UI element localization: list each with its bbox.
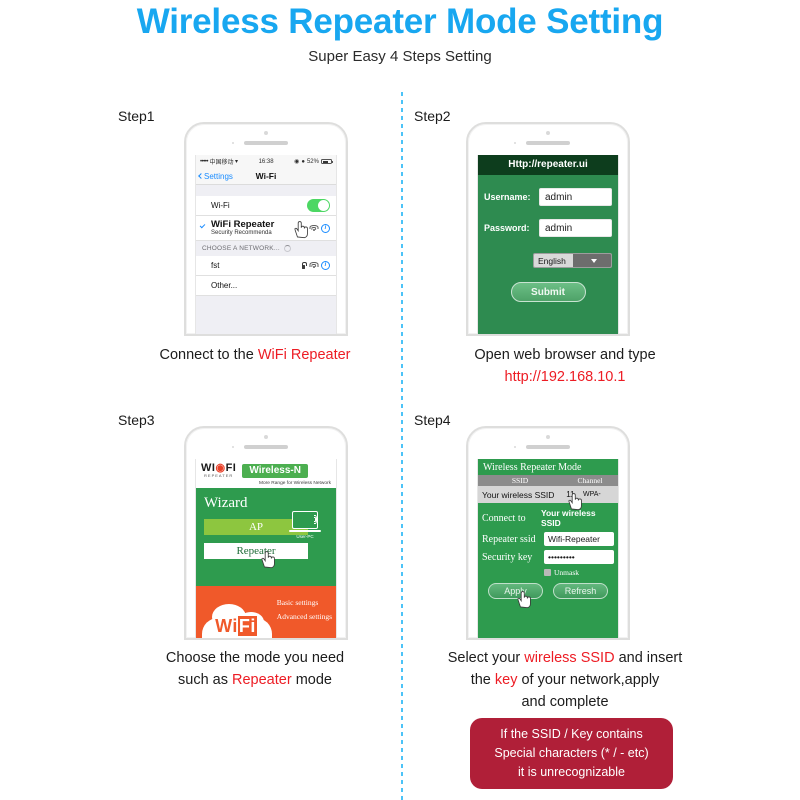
camera-icon <box>546 131 550 135</box>
list-top-gap <box>196 185 336 196</box>
speaker-grill <box>244 141 288 145</box>
security-key-row: Security key ••••••••• <box>478 546 618 564</box>
network-row-other[interactable]: Other... <box>196 276 336 296</box>
camera-icon <box>264 131 268 135</box>
phone-top-bezel <box>468 428 628 459</box>
page-subtitle: Super Easy 4 Steps Setting <box>0 48 800 65</box>
step-3-caption-line2: such as Repeater mode <box>110 670 400 692</box>
step-3-phone: WI◉FI REPEATER Wireless-N More Range for… <box>184 426 348 640</box>
step-4-caption: Select your wireless SSID and insert the… <box>415 648 715 713</box>
username-input[interactable]: admin <box>539 188 612 206</box>
ios-settings-list: Wi-Fi WiFi Repeater Security Recommenda … <box>196 185 336 334</box>
step-1-label-wrap: Step1 <box>118 108 155 124</box>
wifi-wordmark: WiFi <box>204 616 268 637</box>
alarm-icon: ◉ <box>294 158 299 165</box>
wifi-status-icon: ▾ <box>235 158 238 165</box>
vertical-divider <box>401 92 403 800</box>
step-1-phone: ••••• 中国移动 ▾ 16:38 ◉ ● 52% Settings Wi-F… <box>184 122 348 336</box>
connect-to-row: Connect to Your wireless SSID <box>478 503 618 528</box>
hand-cursor-icon <box>292 220 309 240</box>
submit-wrap: Submit <box>478 282 618 302</box>
loading-spinner-icon <box>284 245 291 252</box>
speaker-grill <box>526 445 570 449</box>
repeater-ssid-label: Repeater ssid <box>482 534 544 545</box>
step-3-caption-highlight: Repeater <box>232 672 292 688</box>
wifi-toggle-row[interactable]: Wi-Fi <box>196 196 336 216</box>
connected-network-name: WiFi Repeater <box>211 220 274 230</box>
battery-percent: 52% <box>307 159 319 165</box>
step-2-phone: Http://repeater.ui Username: admin Passw… <box>466 122 630 336</box>
password-input[interactable]: admin <box>539 219 612 237</box>
list-bottom-gap <box>196 296 336 310</box>
user-pc-label: User-PC <box>288 534 322 539</box>
row-channel: 11 <box>558 490 583 499</box>
wizard-settings-panel: WiFi Basic settings Advanced settings <box>196 586 336 638</box>
connected-network-subtitle: Security Recommenda <box>211 230 274 236</box>
signal-wave-icon <box>314 515 320 525</box>
connect-to-label: Connect to <box>482 513 541 524</box>
unmask-checkbox[interactable] <box>544 569 551 576</box>
step-2-label-wrap: Step2 <box>414 108 451 124</box>
clock-label: 16:38 <box>259 159 274 165</box>
choose-network-label: CHOOSE A NETWORK... <box>202 245 280 252</box>
wifi-toggle-label: Wi-Fi <box>202 201 230 210</box>
sensor-icon <box>232 446 234 448</box>
refresh-label: Refresh <box>565 586 597 596</box>
step-4-screen: Wireless Repeater Mode SSID Channel Your… <box>477 459 619 638</box>
apply-button[interactable]: Apply <box>488 583 543 599</box>
url-bar[interactable]: Http://repeater.ui <box>478 155 618 175</box>
wifi-word-fi: Fi <box>238 616 257 636</box>
wireless-n-badge: Wireless-N <box>242 464 308 478</box>
row-encryption: WPA- <box>583 491 601 498</box>
step-2-label: Step2 <box>414 108 451 124</box>
step-1-caption: Connect to the WiFi Repeater <box>110 345 400 367</box>
security-key-label: Security key <box>482 552 544 563</box>
language-value: English <box>534 256 573 266</box>
network-table-row[interactable]: Your wireless SSID 11 WPA- <box>478 486 618 503</box>
repeater-ssid-row: Repeater ssid Wifi-Repeater <box>478 528 618 546</box>
repeater-mode-button[interactable]: Repeater <box>204 543 308 559</box>
step-1-label: Step1 <box>118 108 155 124</box>
wizard-mode-panel: Wizard AP Repeater User-PC <box>196 488 336 587</box>
row-ssid: Your wireless SSID <box>478 490 558 500</box>
step-4-caption-line1-tail: and insert <box>615 650 683 666</box>
connected-network-row[interactable]: WiFi Repeater Security Recommenda i <box>196 216 336 241</box>
user-pc-icon: User-PC <box>288 511 322 540</box>
step-3-caption-line2-tail: mode <box>292 672 332 688</box>
step-3-label-wrap: Step3 <box>118 412 155 428</box>
warning-line-1: If the SSID / Key contains <box>476 725 667 744</box>
network-row-fst[interactable]: fst i <box>196 256 336 276</box>
warning-line-3: it is unrecognizable <box>476 763 667 782</box>
action-buttons: Apply Refresh <box>478 583 618 599</box>
repeater-page-title: Wireless Repeater Mode <box>478 459 618 475</box>
repeater-settings-page: Wireless Repeater Mode SSID Channel Your… <box>478 459 618 638</box>
network-table-header: SSID Channel <box>478 475 618 486</box>
phone-top-bezel <box>468 124 628 155</box>
step-4-caption-line2-head: the <box>471 672 495 688</box>
connect-to-value: Your wireless SSID <box>541 508 614 528</box>
network-name-fst: fst <box>202 261 219 270</box>
speaker-grill <box>244 445 288 449</box>
lock-icon <box>301 262 306 269</box>
wifi-signal-icon <box>309 262 318 269</box>
wifi-word-wi: Wi <box>215 616 238 636</box>
step-3-caption: Choose the mode you need such as Repeate… <box>110 648 400 692</box>
carrier-label: 中国移动 <box>210 157 234 166</box>
warning-box: If the SSID / Key contains Special chara… <box>470 718 673 789</box>
step-4-caption-line1: Select your wireless SSID and insert <box>415 648 715 670</box>
sensor-icon <box>514 142 516 144</box>
choose-network-header: CHOOSE A NETWORK... <box>196 241 336 256</box>
unmask-label: Unmask <box>554 568 579 577</box>
submit-button[interactable]: Submit <box>511 282 586 302</box>
apply-label: Apply <box>504 586 527 596</box>
phone-top-bezel <box>186 428 346 459</box>
settings-links: Basic settings Advanced settings <box>277 598 332 626</box>
step-4-caption-highlight-ssid: wireless SSID <box>524 650 614 666</box>
password-label: Password: <box>484 223 539 233</box>
security-key-input[interactable]: ••••••••• <box>544 550 614 564</box>
wifi-signal-icon <box>309 225 318 232</box>
nav-title: Wi-Fi <box>196 171 336 181</box>
password-row: Password: admin <box>478 219 618 237</box>
ios-status-bar: ••••• 中国移动 ▾ 16:38 ◉ ● 52% <box>196 155 336 168</box>
step-1-caption-highlight: WiFi Repeater <box>258 347 351 363</box>
step-3-label: Step3 <box>118 412 155 428</box>
infographic-page: Wireless Repeater Mode Setting Super Eas… <box>0 0 800 800</box>
advanced-settings-link[interactable]: Advanced settings <box>277 612 332 621</box>
basic-settings-link[interactable]: Basic settings <box>277 598 332 607</box>
speaker-grill <box>526 141 570 145</box>
wizard-title: Wizard <box>204 495 336 512</box>
ios-nav-bar: Settings Wi-Fi <box>196 168 336 185</box>
signal-dots-icon: ••••• <box>200 159 208 165</box>
column-ssid: SSID <box>478 475 562 486</box>
refresh-button[interactable]: Refresh <box>553 583 608 599</box>
page-title: Wireless Repeater Mode Setting <box>0 2 800 42</box>
step-3-screen: WI◉FI REPEATER Wireless-N More Range for… <box>195 459 337 638</box>
step-4-label: Step4 <box>414 412 451 428</box>
username-row: Username: admin <box>478 188 618 206</box>
unmask-row[interactable]: Unmask <box>478 564 618 577</box>
sensor-icon <box>514 446 516 448</box>
step-2-caption-url: http://192.168.10.1 <box>420 367 710 389</box>
chevron-down-icon[interactable] <box>573 254 612 267</box>
logo-subtitle: REPEATER <box>201 474 236 478</box>
router-login-page: Http://repeater.ui Username: admin Passw… <box>478 155 618 334</box>
step-4-caption-line1-head: Select your <box>448 650 525 666</box>
warning-line-2: Special characters (* / - etc) <box>476 744 667 763</box>
language-select-wrap: English <box>478 253 618 268</box>
username-label: Username: <box>484 192 539 202</box>
step-4-caption-highlight-key: key <box>495 672 518 688</box>
wifi-repeater-logo: WI◉FI REPEATER <box>201 463 236 478</box>
language-select[interactable]: English <box>533 253 612 268</box>
info-icon[interactable]: i <box>321 224 330 233</box>
step-4-phone: Wireless Repeater Mode SSID Channel Your… <box>466 426 630 640</box>
step-1-caption-text: Connect to the <box>159 347 257 363</box>
repeater-ssid-input[interactable]: Wifi-Repeater <box>544 532 614 546</box>
column-channel: Channel <box>562 475 618 486</box>
step-2-screen: Http://repeater.ui Username: admin Passw… <box>477 155 619 334</box>
step-3-caption-line2-head: such as <box>178 672 232 688</box>
battery-icon <box>321 159 332 164</box>
step-3-caption-line1: Choose the mode you need <box>110 648 400 670</box>
network-name-other: Other... <box>202 281 237 290</box>
wizard-header: WI◉FI REPEATER Wireless-N More Range for… <box>196 459 336 488</box>
step-4-caption-line2-tail: of your network,apply <box>517 672 659 688</box>
step-2-caption-line1: Open web browser and type <box>420 345 710 367</box>
step-4-caption-line3: and complete <box>415 692 715 714</box>
step-2-caption: Open web browser and type http://192.168… <box>420 345 710 389</box>
step-4-label-wrap: Step4 <box>414 412 451 428</box>
wifi-toggle-switch[interactable] <box>307 199 330 212</box>
step-4-caption-line2: the key of your network,apply <box>415 670 715 692</box>
step-1-screen: ••••• 中国移动 ▾ 16:38 ◉ ● 52% Settings Wi-F… <box>195 155 337 334</box>
info-icon[interactable]: i <box>321 261 330 270</box>
wizard-tagline: More Range for Wireless Network <box>201 478 331 486</box>
phone-top-bezel <box>186 124 346 155</box>
wizard-page: WI◉FI REPEATER Wireless-N More Range for… <box>196 459 336 638</box>
camera-icon <box>546 435 550 439</box>
bluetooth-icon: ● <box>301 159 305 165</box>
camera-icon <box>264 435 268 439</box>
sensor-icon <box>232 142 234 144</box>
